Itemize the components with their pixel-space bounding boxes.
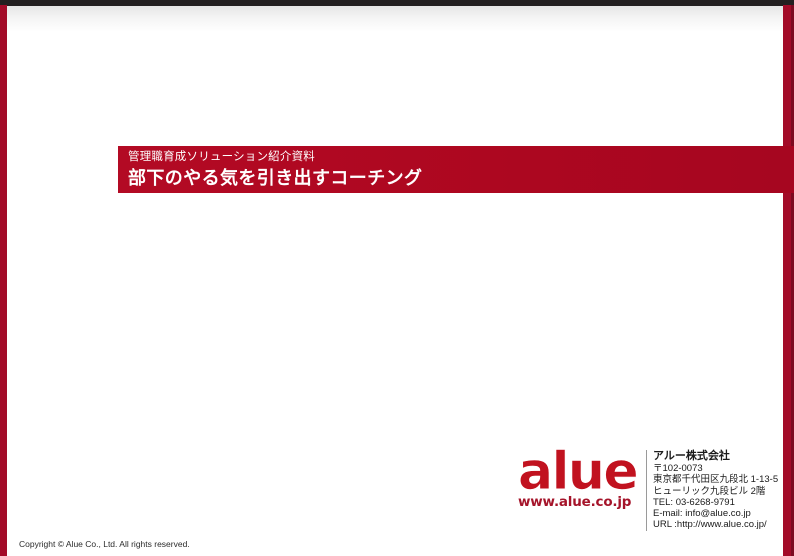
company-address-block: アルー株式会社 〒102-0073 東京都千代田区九段北 1-13-5 ヒューリ… [646,450,793,531]
address-building: ヒューリック九段ビル 2階 [653,486,793,497]
slide-canvas: 管理職育成ソリューション紹介資料 部下のやる気を引き出すコーチング alue w… [0,0,794,556]
address-telephone: TEL: 03-6268-9791 [653,497,793,508]
top-gradient-strip [6,6,784,32]
page-title: 部下のやる気を引き出すコーチング [128,164,422,190]
copyright-notice: Copyright © Alue Co., Ltd. All rights re… [19,539,190,549]
logo-url-text: www.alue.co.jp [518,494,640,510]
left-red-edge-strip [0,5,7,556]
company-name: アルー株式会社 [653,450,793,463]
address-postal-code: 〒102-0073 [653,463,793,474]
brand-logo: alue www.alue.co.jp [518,448,640,510]
address-website-url: URL :http://www.alue.co.jp/ [653,519,793,530]
logo-wordmark: alue [518,448,640,496]
address-street: 東京都千代田区九段北 1-13-5 [653,474,793,485]
banner-subtitle: 管理職育成ソリューション紹介資料 [128,148,315,164]
address-email: E-mail: info@alue.co.jp [653,508,793,519]
title-banner: 管理職育成ソリューション紹介資料 部下のやる気を引き出すコーチング [118,146,794,193]
